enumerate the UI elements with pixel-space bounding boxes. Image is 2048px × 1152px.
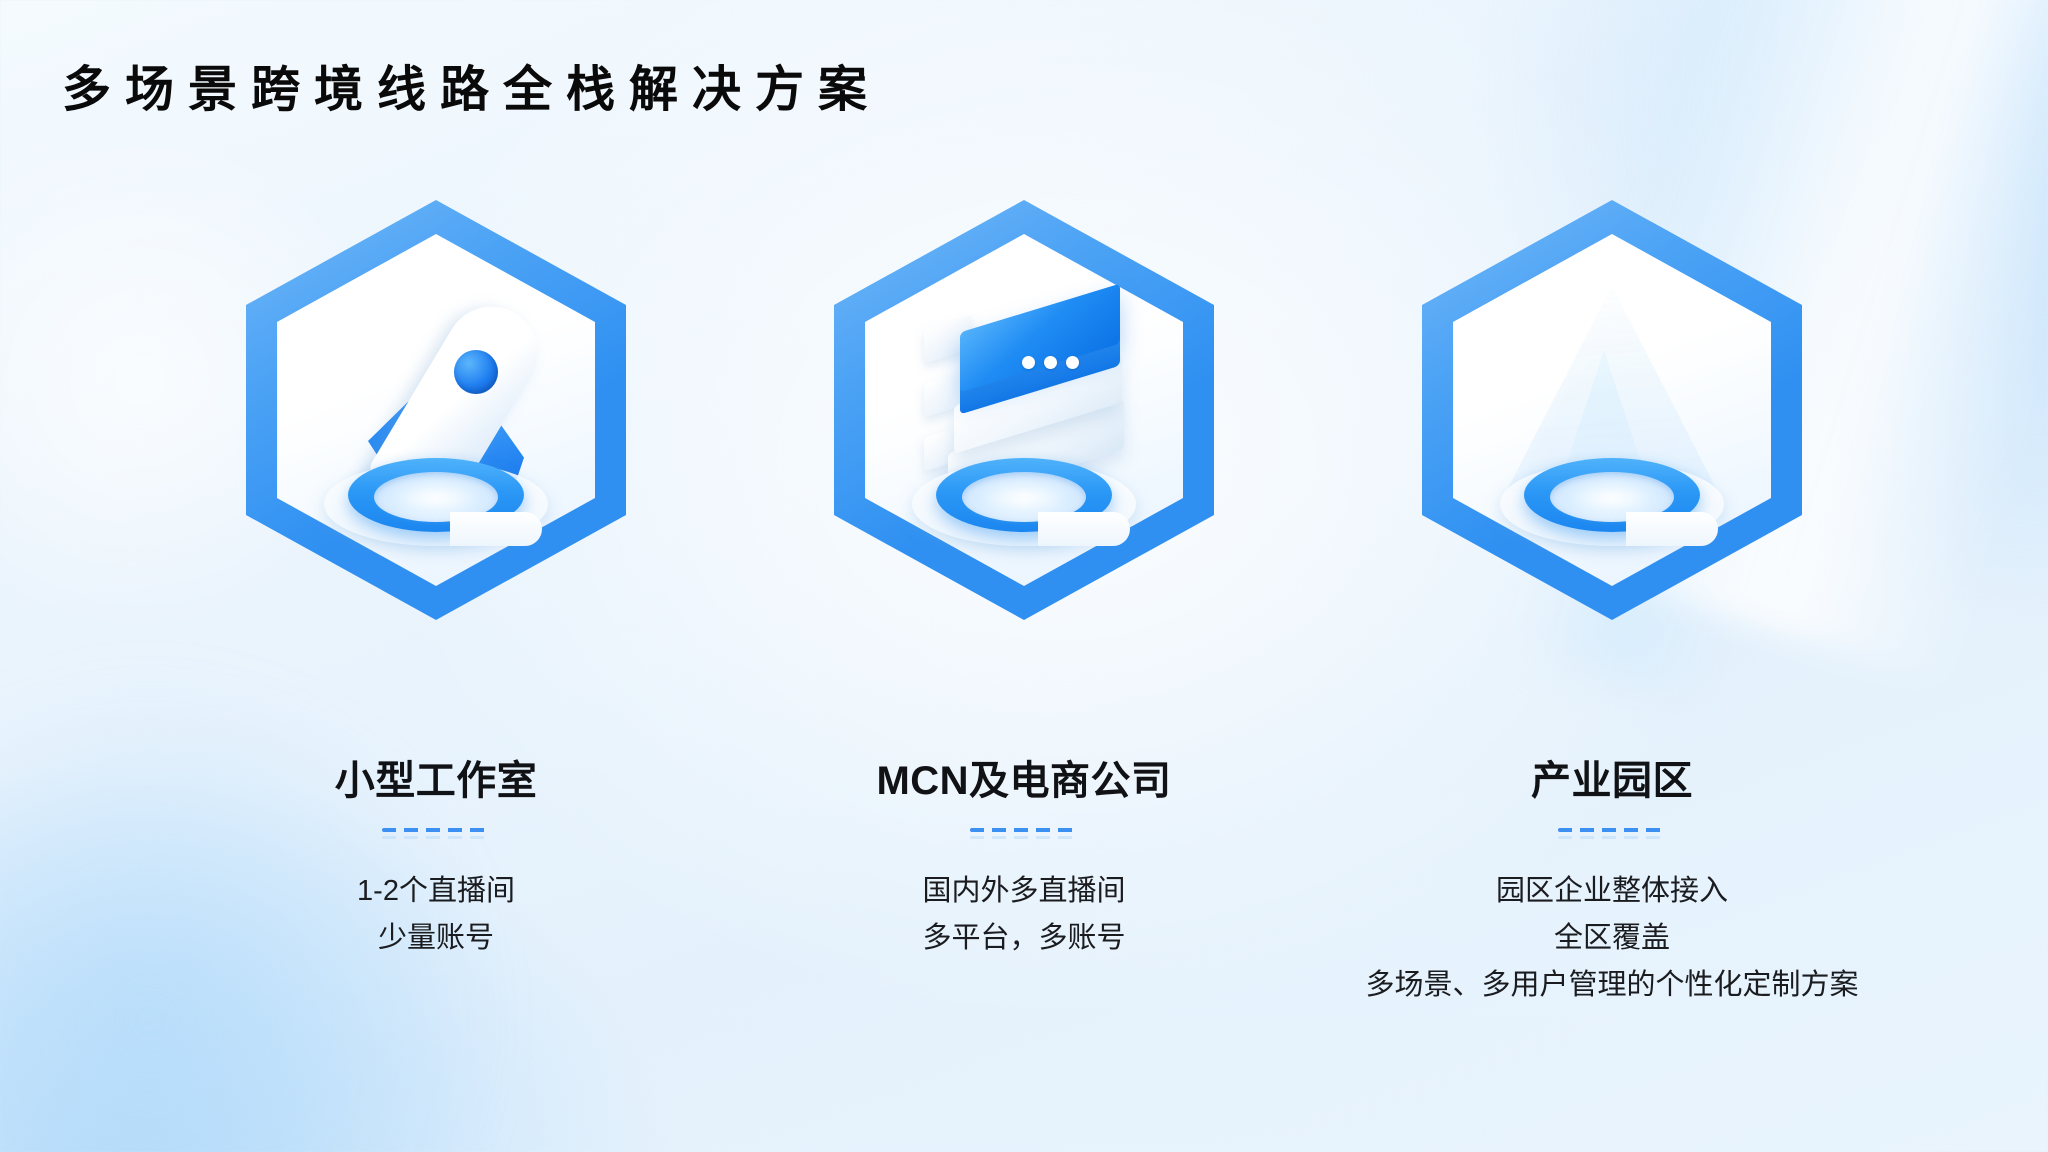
card-title: 产业园区 (1531, 748, 1693, 806)
card-description-line: 国内外多直播间 (922, 868, 1125, 915)
glass-pyramid-icon (1462, 264, 1762, 564)
ring-notch (1038, 512, 1130, 546)
glow-ring-base (324, 452, 548, 548)
card-divider (382, 828, 490, 832)
server-status-dot (1022, 356, 1035, 369)
card-industrial-park[interactable]: 产业园区 园区企业整体接入 全区覆盖 多场景、多用户管理的个性化定制方案 (1332, 210, 1892, 1009)
rocket-icon (286, 264, 586, 564)
card-divider (1558, 828, 1666, 832)
server-stack-icon (874, 264, 1174, 564)
card-description: 园区企业整体接入 全区覆盖 多场景、多用户管理的个性化定制方案 (1365, 868, 1858, 1009)
glow-ring-base (912, 452, 1136, 548)
card-description-line: 1-2个直播间 (357, 868, 515, 915)
card-description-line: 多场景、多用户管理的个性化定制方案 (1365, 962, 1858, 1009)
ring-notch (1626, 512, 1718, 546)
card-mcn-ecommerce[interactable]: MCN及电商公司 国内外多直播间 多平台，多账号 (744, 210, 1304, 962)
hexagon-badge (236, 210, 636, 610)
solution-cards: 小型工作室 1-2个直播间 少量账号 (0, 210, 2048, 1009)
glow-ring-base (1500, 452, 1724, 548)
server-status-dot (1044, 356, 1057, 369)
card-description-line: 全区覆盖 (1365, 915, 1858, 962)
card-small-studio[interactable]: 小型工作室 1-2个直播间 少量账号 (156, 210, 716, 962)
card-description-line: 园区企业整体接入 (1365, 868, 1858, 915)
card-description: 1-2个直播间 少量账号 (357, 868, 515, 962)
card-title: MCN及电商公司 (876, 748, 1171, 806)
card-description-line: 多平台，多账号 (922, 915, 1125, 962)
hexagon-badge (824, 210, 1224, 610)
card-title: 小型工作室 (335, 748, 538, 806)
card-description-line: 少量账号 (357, 915, 515, 962)
hexagon-badge (1412, 210, 1812, 610)
server-status-dot (1066, 356, 1079, 369)
page-title: 多场景跨境线路全栈解决方案 (62, 60, 881, 121)
card-divider (970, 828, 1078, 832)
card-description: 国内外多直播间 多平台，多账号 (922, 868, 1125, 962)
rocket-porthole-icon (454, 350, 498, 394)
ring-notch (450, 512, 542, 546)
